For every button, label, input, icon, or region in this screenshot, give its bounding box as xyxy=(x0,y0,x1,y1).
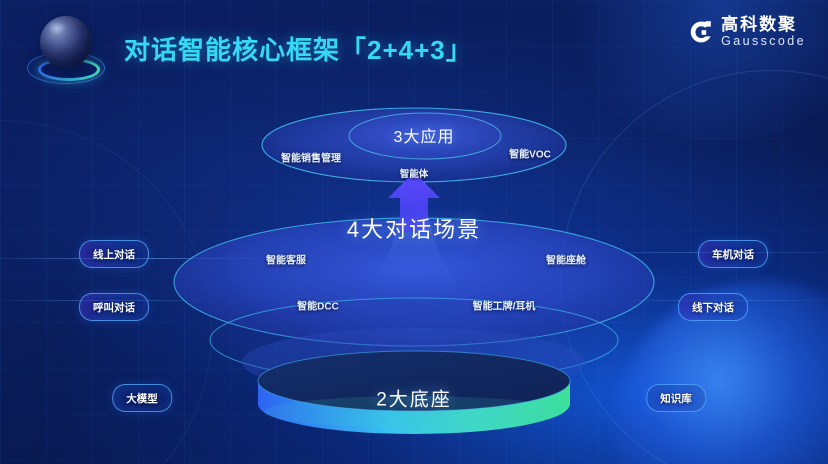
tier-node-intelligent-sales: 智能销售管理 xyxy=(281,150,341,165)
side-label-vehicle-dialogue[interactable]: 车机对话 xyxy=(698,240,768,268)
tier-node-smart-cockpit: 智能座舱 xyxy=(546,252,586,267)
tier-node-customer-service: 智能客服 xyxy=(266,252,306,267)
side-label-call-dialogue[interactable]: 呼叫对话 xyxy=(79,293,149,321)
slide-canvas: 对话智能核心框架「2+4+3」 高科数聚 Gausscode xyxy=(0,0,828,464)
base-label-knowledge-base[interactable]: 知识库 xyxy=(646,384,706,412)
framework-diagram: 3大应用 智能销售管理 智能VOC 智能体 4大对话场景 智能客服 智能座舱 智… xyxy=(0,0,828,464)
tier-title-scenarios: 4大对话场景 xyxy=(347,212,481,244)
tier-sublabel-agent: 智能体 xyxy=(400,166,429,180)
base-label-large-model[interactable]: 大模型 xyxy=(112,384,172,412)
tier-node-smart-badge-headset: 智能工牌/耳机 xyxy=(473,298,536,313)
tier-node-smart-dcc: 智能DCC xyxy=(297,298,339,313)
tier-title-applications: 3大应用 xyxy=(394,123,455,147)
side-label-online-dialogue[interactable]: 线上对话 xyxy=(79,240,149,268)
tier-title-foundation: 2大底座 xyxy=(376,385,452,412)
tier-node-intelligent-voc: 智能VOC xyxy=(509,146,551,161)
side-label-offline-dialogue[interactable]: 线下对话 xyxy=(678,293,748,321)
